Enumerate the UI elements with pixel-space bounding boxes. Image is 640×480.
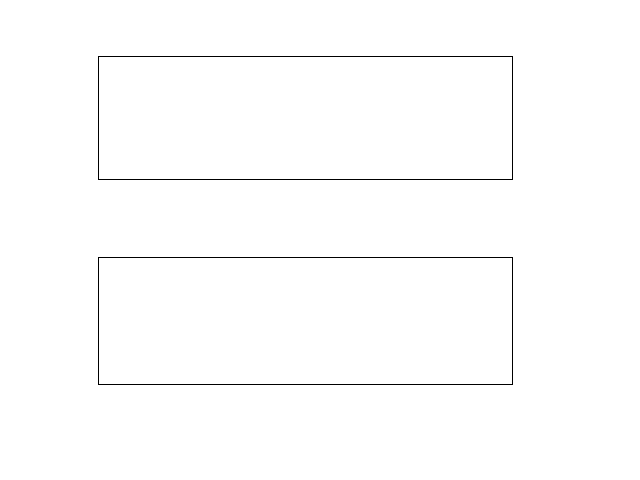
qc-axis-ticks [92, 255, 519, 387]
top-axis-ticks [92, 54, 519, 182]
plot-page [0, 0, 640, 480]
